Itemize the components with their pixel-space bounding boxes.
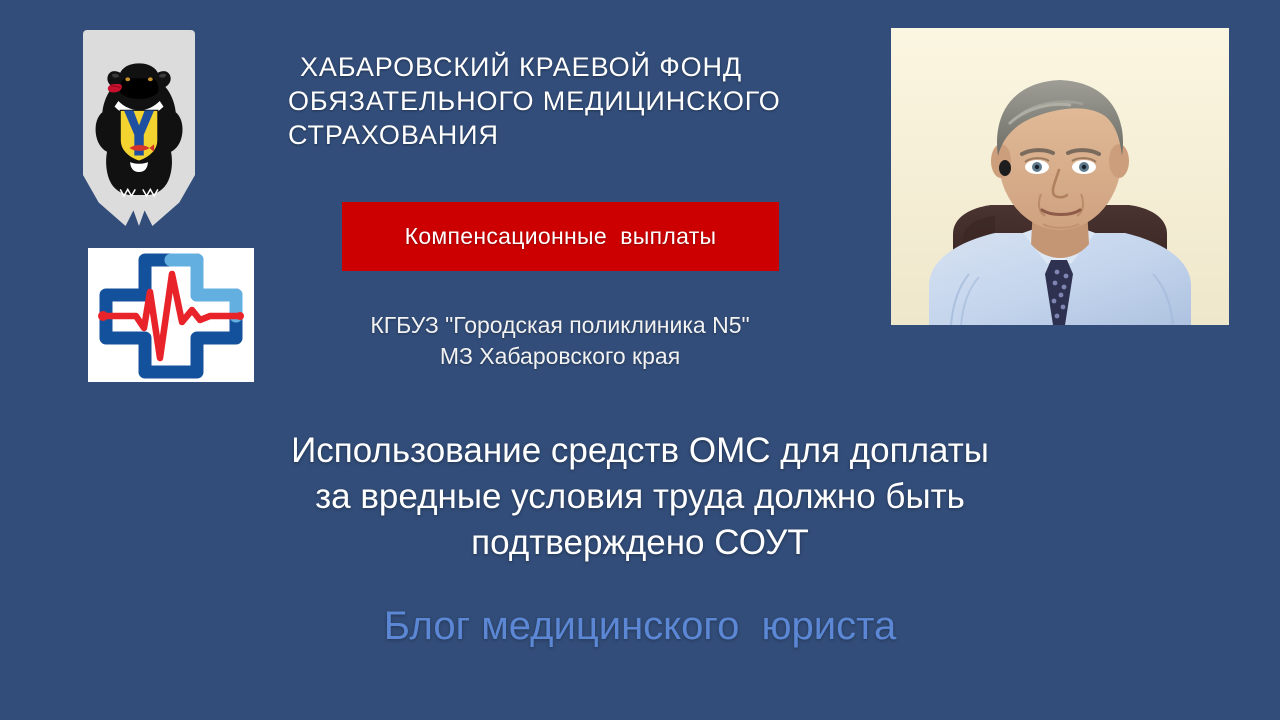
presenter-photo-illustration (891, 28, 1229, 325)
khabarovsk-krai-coat-of-arms-icon (83, 30, 195, 226)
coat-of-arms-bear-icon (92, 42, 186, 214)
org-title-line-1: ХАБАРОВСКИЙ КРАЕВОЙ ФОНД (288, 50, 888, 84)
clinic-name-line-1: КГБУЗ "Городская поликлиника N5" (250, 310, 870, 341)
page-title: Использование средств ОМС для доплаты за… (140, 428, 1140, 566)
headline-line-2: за вредные условия труда должно быть (140, 474, 1140, 520)
org-title-line-2: ОБЯЗАТЕЛЬНОГО МЕДИЦИНСКОГО (288, 84, 888, 118)
medical-cross-ecg-logo-icon (88, 248, 254, 382)
clinic-name-line-2: МЗ Хабаровского края (250, 341, 870, 372)
headline-line-1: Использование средств ОМС для доплаты (140, 428, 1140, 474)
organization-title: ХАБАРОВСКИЙ КРАЕВОЙ ФОНД ОБЯЗАТЕЛЬНОГО М… (288, 50, 888, 152)
presenter-photo (891, 28, 1229, 325)
clinic-name: КГБУЗ "Городская поликлиника N5" МЗ Хаба… (250, 310, 870, 372)
compensation-payments-banner: Компенсационные выплаты (342, 202, 779, 271)
blog-subtitle: Блог медицинского юриста (140, 601, 1140, 651)
org-title-line-3: СТРАХОВАНИЯ (288, 118, 888, 152)
banner-label: Компенсационные выплаты (405, 223, 717, 250)
medical-cross-svg (88, 248, 254, 382)
video-slide: ХАБАРОВСКИЙ КРАЕВОЙ ФОНД ОБЯЗАТЕЛЬНОГО М… (0, 0, 1280, 720)
headline-line-3: подтверждено СОУТ (140, 520, 1140, 566)
